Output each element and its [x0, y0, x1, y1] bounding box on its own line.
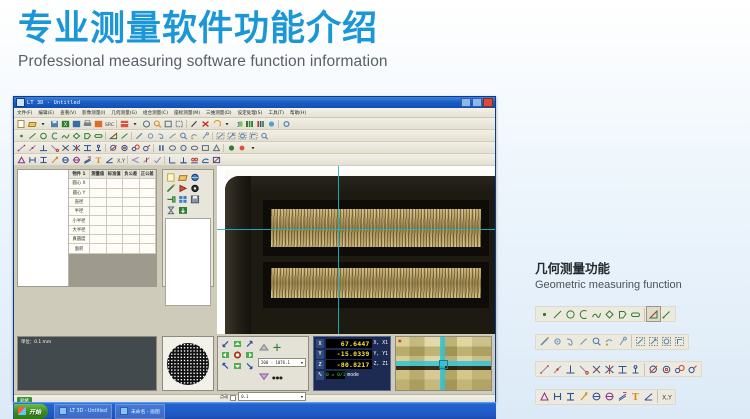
standard-toolbar[interactable]: X SRC 1 — [14, 118, 495, 130]
probe-icon[interactable] — [603, 335, 616, 349]
dropdown-arrow-icon[interactable] — [222, 119, 232, 128]
menu-item-image-measure[interactable]: 影像测量(I) — [82, 110, 105, 116]
table-row[interactable]: 大半径 — [69, 226, 156, 235]
gear-icon[interactable] — [551, 335, 564, 349]
circle-tangent-icon[interactable] — [647, 362, 660, 376]
toolbar-separator — [657, 390, 658, 403]
datum-set-icon[interactable] — [211, 155, 221, 164]
text-icon[interactable]: T — [629, 390, 642, 404]
toolbar-separator — [116, 120, 117, 128]
angle-icon[interactable] — [130, 155, 140, 164]
cross-point-icon[interactable] — [141, 155, 151, 164]
line2p-icon[interactable] — [16, 143, 26, 152]
angle-dim-icon[interactable] — [642, 390, 655, 404]
gold-region-1 — [271, 209, 481, 247]
brush-icon[interactable] — [165, 183, 176, 193]
layer-icon[interactable]: 1 — [233, 119, 243, 128]
circle-move-icon[interactable] — [141, 143, 151, 152]
parallel-bars-icon[interactable] — [156, 143, 166, 152]
perpendicular-icon[interactable] — [38, 143, 48, 152]
new-file-icon[interactable] — [165, 172, 176, 182]
polygon-icon[interactable] — [71, 131, 81, 140]
cell[interactable] — [123, 198, 140, 207]
toolbar-separator — [153, 144, 154, 152]
paint-icon — [120, 407, 128, 415]
row-label: 真圆度 — [69, 235, 90, 244]
curve-icon[interactable] — [590, 307, 603, 321]
row-label: 小半径 — [69, 216, 90, 225]
fit-icon[interactable] — [174, 119, 184, 128]
zoom-in-light-icon[interactable] — [258, 339, 270, 357]
zoom-icon[interactable] — [152, 119, 162, 128]
toolbar-separator — [278, 120, 279, 128]
xy-icon[interactable]: X,Y — [115, 155, 125, 164]
cell[interactable] — [140, 235, 157, 244]
cell[interactable] — [90, 179, 107, 188]
save-icon[interactable] — [49, 119, 59, 128]
cell[interactable] — [140, 244, 157, 253]
hourglass-icon[interactable] — [165, 205, 176, 215]
measurement-table: 物件 1 测量值 标准值 负公差 正公差 圆心 X 圆心 Y 直径 半径 小半径… — [69, 170, 156, 286]
cell[interactable] — [140, 207, 157, 216]
plane-icon[interactable] — [200, 143, 210, 152]
pan-icon[interactable] — [163, 119, 173, 128]
table-row[interactable]: 圆心 Y — [69, 189, 156, 198]
svg-text:SRC: SRC — [105, 122, 114, 128]
cell[interactable] — [140, 216, 157, 225]
axis-label-z: Z — [316, 360, 324, 369]
axis-value-x: 67.6447 — [326, 339, 372, 348]
clock-icon[interactable] — [189, 183, 200, 193]
curve-icon[interactable] — [60, 131, 70, 140]
start-label: 开始 — [29, 407, 41, 416]
axis-value-y: -15.0339 — [326, 350, 372, 359]
line2p-icon[interactable] — [538, 362, 551, 376]
bisect-icon[interactable] — [577, 362, 590, 376]
table-empty-area — [69, 254, 156, 286]
line-icon[interactable] — [27, 131, 37, 140]
menu-item-settings[interactable]: 设定处理(S) — [238, 110, 263, 116]
contour-icon[interactable] — [616, 307, 629, 321]
toolbar-measure-tools[interactable] — [535, 334, 689, 350]
open-folder-icon[interactable] — [27, 119, 37, 128]
jog-down-left-button[interactable] — [220, 361, 231, 371]
datum-rotate-icon[interactable] — [200, 155, 210, 164]
diagonal-icon[interactable] — [226, 131, 236, 140]
arrow-probe-icon[interactable] — [167, 131, 177, 140]
cell[interactable] — [107, 198, 124, 207]
cylinder-icon[interactable] — [167, 143, 177, 152]
start-button[interactable]: 开始 — [14, 404, 48, 419]
speed-select[interactable]: 200 - 1076.1 ▼ — [258, 358, 306, 367]
jog-down-button[interactable] — [232, 361, 243, 371]
bars-icon[interactable] — [255, 119, 265, 128]
axis-label-y: Y — [316, 350, 324, 359]
cell[interactable] — [90, 198, 107, 207]
app-icon — [59, 407, 67, 415]
datum-left-icon[interactable] — [167, 155, 177, 164]
cell[interactable] — [107, 207, 124, 216]
slide-root: 专业测量软件功能介绍 Professional measuring softwa… — [0, 0, 750, 419]
midline-icon[interactable] — [616, 362, 629, 376]
diagonal-icon[interactable] — [647, 335, 660, 349]
stage-control-panel[interactable]: 200 - 1076.1 ▼ ●●● 点动 — [217, 336, 309, 391]
circle-dashed-icon[interactable] — [660, 335, 673, 349]
row-label: 圆心 X — [69, 179, 90, 188]
circle-move-icon[interactable] — [686, 362, 699, 376]
i-beam-icon[interactable] — [564, 390, 577, 404]
maximize-button[interactable] — [472, 98, 482, 107]
toolbar-annotation-tools[interactable]: T X,Y — [535, 389, 676, 405]
toolbar-separator — [212, 132, 213, 140]
pixel-zoom-pane[interactable]: ▣ — [395, 336, 492, 391]
taper-icon[interactable] — [616, 390, 629, 404]
menu-item-tools[interactable]: 工具(T) — [268, 110, 284, 116]
corner-dashed-icon[interactable] — [673, 335, 686, 349]
export-excel-icon[interactable]: X — [60, 119, 70, 128]
window-title-bar[interactable]: LT 3D - Untitled — [14, 97, 495, 108]
speed-select-value: 200 - 1076.1 — [261, 360, 290, 365]
cell[interactable] — [107, 235, 124, 244]
jog-pad[interactable] — [220, 339, 255, 371]
toolbar-geometry-primitives[interactable] — [535, 306, 676, 322]
close-button[interactable] — [483, 98, 493, 107]
delete-icon[interactable] — [200, 119, 210, 128]
arrow-probe-icon[interactable] — [577, 335, 590, 349]
triangle-icon[interactable] — [16, 155, 26, 164]
line-point-icon[interactable] — [27, 143, 37, 152]
point-icon[interactable] — [538, 307, 551, 321]
light-level-label: ●●● — [272, 375, 283, 380]
lightning-icon[interactable] — [577, 390, 590, 404]
perpendicular-icon[interactable] — [564, 362, 577, 376]
construct-toolbar[interactable] — [14, 142, 495, 154]
taskbar-item-label: 未命名 - 画图 — [131, 408, 160, 415]
dro-row-x: X 67.6447 X, X1 — [316, 339, 388, 348]
row-label: 圆心 Y — [69, 189, 90, 198]
color-ball-icon[interactable] — [226, 143, 236, 152]
windows-taskbar[interactable]: 开始 LT 3D - Untitled 未命名 - 画图 — [13, 402, 496, 419]
theta-icon[interactable] — [60, 155, 70, 164]
step-label: 点动 — [220, 394, 228, 400]
menu-bar[interactable]: 文件(F) 编辑(E) 查看(V) 影像测量(I) 几何测量(G) 组合测量(C… — [14, 108, 495, 118]
line-point-icon[interactable] — [551, 362, 564, 376]
paint-icon[interactable] — [237, 143, 247, 152]
pick-icon[interactable] — [200, 131, 210, 140]
slot-icon[interactable] — [629, 307, 642, 321]
menu-item-coordinate-measure[interactable]: 座标测量(M) — [174, 110, 200, 116]
chevron-down-icon[interactable]: ▼ — [301, 395, 303, 399]
cell[interactable] — [107, 179, 124, 188]
play-icon[interactable] — [177, 183, 188, 193]
datum-pair-icon[interactable] — [189, 155, 199, 164]
cell[interactable] — [90, 235, 107, 244]
crosshair-horizontal — [217, 229, 495, 230]
cone-icon[interactable] — [211, 143, 221, 152]
datum-bottom-icon[interactable] — [178, 155, 188, 164]
hook-icon[interactable] — [564, 335, 577, 349]
cell[interactable] — [140, 226, 157, 235]
cell[interactable] — [123, 244, 140, 253]
align-icon[interactable] — [165, 194, 176, 204]
pattern-icon[interactable] — [634, 335, 647, 349]
client-area: 物件 1 测量值 标准值 负公差 正公差 圆心 X 圆心 Y 直径 半径 小半径… — [14, 166, 495, 394]
table-row[interactable]: 直径 — [69, 198, 156, 207]
tool-palette-list[interactable] — [165, 218, 211, 306]
triangle-icon[interactable] — [538, 390, 551, 404]
bisect-icon[interactable] — [49, 143, 59, 152]
light-icon[interactable] — [266, 119, 276, 128]
step-value-select[interactable]: 0.1 ▼ — [238, 392, 306, 401]
save-icon[interactable] — [189, 194, 200, 204]
cell[interactable] — [140, 179, 157, 188]
tool-palette[interactable] — [162, 169, 214, 287]
menu-item-file[interactable]: 文件(F) — [17, 110, 32, 116]
lightning-icon[interactable] — [49, 155, 59, 164]
taskbar-item-paint[interactable]: 未命名 - 画图 — [115, 404, 165, 419]
taskbar-item-lt3d[interactable]: LT 3D - Untitled — [54, 404, 112, 419]
cell[interactable] — [90, 226, 107, 235]
table-icon[interactable] — [119, 119, 129, 128]
toolbar-separator — [223, 144, 224, 152]
cell[interactable] — [123, 179, 140, 188]
table-row[interactable]: 圆心 X — [69, 179, 156, 188]
table-row[interactable]: 小半径 — [69, 216, 156, 225]
dropdown-arrow-icon[interactable] — [38, 119, 48, 128]
zoom-out-light-icon[interactable] — [258, 368, 270, 386]
counter-icon: % — [316, 371, 324, 380]
table-row[interactable]: 面积 — [69, 244, 156, 253]
export-icon[interactable] — [177, 205, 188, 215]
contour-icon[interactable] — [82, 131, 92, 140]
preview-icon[interactable] — [93, 119, 103, 128]
dot-pattern-image — [167, 343, 209, 385]
slot-icon[interactable] — [93, 131, 103, 140]
cell[interactable] — [140, 198, 157, 207]
table-row[interactable]: 真圆度 — [69, 235, 156, 244]
undo-circle-icon[interactable] — [141, 119, 151, 128]
cell[interactable] — [140, 189, 157, 198]
counter-label: mode — [347, 373, 359, 378]
globe-icon[interactable] — [189, 172, 200, 182]
step-value: 0.1 — [241, 394, 248, 399]
phi-icon[interactable] — [603, 390, 616, 404]
grid-view-icon[interactable] — [244, 119, 254, 128]
toolbar-separator — [631, 335, 632, 348]
cross-intersect-icon[interactable] — [71, 143, 81, 152]
point-icon[interactable] — [16, 131, 26, 140]
jog-down-right-button[interactable] — [244, 361, 255, 371]
midline-icon[interactable] — [82, 143, 92, 152]
pin-icon[interactable] — [629, 362, 642, 376]
corner-dashed-icon[interactable] — [248, 131, 258, 140]
cross-intersect-icon[interactable] — [603, 362, 616, 376]
circle-tangent-icon[interactable] — [108, 143, 118, 152]
src-label-icon: SRC — [104, 119, 114, 128]
probe-tool-icon[interactable] — [189, 119, 199, 128]
open-folder-icon[interactable] — [177, 172, 188, 182]
zoom-icon[interactable] — [259, 131, 269, 140]
jog-right-button[interactable] — [244, 350, 255, 360]
windows-flag-icon — [18, 407, 26, 415]
two-circle-icon[interactable] — [673, 362, 686, 376]
digital-readout-panel: X 67.6447 X, X1 Y -15.0339 Y, Y1 Z -80.8… — [313, 336, 391, 391]
circle-center-icon[interactable] — [660, 362, 673, 376]
magnifier-icon[interactable] — [590, 335, 603, 349]
object-list[interactable] — [18, 170, 69, 286]
theta-icon[interactable] — [590, 390, 603, 404]
cell[interactable] — [90, 244, 107, 253]
print-icon[interactable] — [82, 119, 92, 128]
check-line-icon[interactable] — [152, 155, 162, 164]
dro-row-y: Y -15.0339 Y, Y1 — [316, 350, 388, 359]
jog-up-left-button[interactable] — [220, 339, 231, 349]
circle-icon[interactable] — [564, 307, 577, 321]
page-title-en: Professional measuring software function… — [18, 53, 538, 71]
th-object: 物件 1 — [69, 170, 90, 179]
new-file-icon[interactable] — [16, 119, 26, 128]
xy-icon[interactable]: X,Y — [660, 390, 673, 404]
th-measured: 测量值 — [90, 170, 107, 179]
settings-icon[interactable] — [281, 119, 291, 128]
grid-icon[interactable] — [177, 194, 188, 204]
row-label: 大半径 — [69, 226, 90, 235]
intersect-icon[interactable] — [590, 362, 603, 376]
window-buttons[interactable] — [461, 98, 493, 107]
gold-region-2 — [271, 268, 481, 298]
h-dim-icon[interactable] — [551, 390, 564, 404]
cell[interactable] — [90, 216, 107, 225]
toolbar-construct-tools[interactable] — [535, 361, 702, 377]
segment-icon[interactable] — [119, 131, 129, 140]
row-label: 直径 — [69, 198, 90, 207]
angle-dim-icon[interactable] — [104, 155, 114, 164]
table-row[interactable]: 半径 — [69, 207, 156, 216]
jog-left-button[interactable] — [220, 350, 231, 360]
pattern-icon[interactable] — [215, 131, 225, 140]
phi-icon[interactable] — [71, 155, 81, 164]
circle-center-icon[interactable] — [119, 143, 129, 152]
magnifier-icon[interactable] — [178, 131, 188, 140]
svg-text:T: T — [632, 393, 639, 402]
pick-icon[interactable] — [616, 335, 629, 349]
ellipse-icon[interactable] — [189, 143, 199, 152]
th-lower-tol: 负公差 — [123, 170, 140, 179]
menu-item-combined-measure[interactable]: 组合测量(C) — [143, 110, 168, 116]
svg-text:T: T — [95, 156, 101, 164]
dropdown-arrow-icon[interactable] — [130, 119, 140, 128]
circle-icon[interactable] — [38, 131, 48, 140]
menu-item-edit[interactable]: 编辑(E) — [38, 110, 54, 116]
sphere-icon[interactable] — [178, 143, 188, 152]
app-icon — [16, 98, 25, 107]
counter-value: 0 = 0/1 — [326, 371, 345, 379]
pen-icon[interactable] — [134, 131, 144, 140]
circle-dashed-icon[interactable] — [237, 131, 247, 140]
toolbar-separator — [105, 144, 106, 152]
two-circle-icon[interactable] — [130, 143, 140, 152]
minimize-button[interactable] — [461, 98, 471, 107]
angle-selected-icon[interactable] — [108, 131, 118, 140]
application-window: LT 3D - Untitled 文件(F) 编辑(E) 查看(V) 影像测量(… — [13, 96, 496, 402]
arc-icon[interactable] — [577, 307, 590, 321]
cell[interactable] — [90, 207, 107, 216]
report-icon[interactable] — [71, 119, 81, 128]
row-label: 半径 — [69, 207, 90, 216]
cell[interactable] — [107, 226, 124, 235]
h-dim-icon[interactable] — [27, 155, 37, 164]
chevron-down-icon[interactable]: ▼ — [301, 361, 303, 365]
dot-pattern-pane[interactable] — [162, 336, 214, 391]
angle-selected-icon[interactable] — [647, 307, 660, 321]
jog-up-button[interactable] — [232, 339, 243, 349]
cell[interactable] — [107, 244, 124, 253]
annotation-toolbar[interactable]: T X,Y — [14, 154, 495, 166]
row-label: 面积 — [69, 244, 90, 253]
cell[interactable] — [123, 207, 140, 216]
pen-icon[interactable] — [538, 335, 551, 349]
toolbar-separator — [644, 308, 645, 321]
pin-icon[interactable] — [93, 143, 103, 152]
text-icon[interactable]: T — [93, 155, 103, 164]
geometric-function-title-cn: 几何测量功能 — [535, 258, 740, 277]
menu-item-3d-measure[interactable]: 三维测量(D) — [206, 110, 232, 116]
axis-label-x: X — [316, 339, 324, 348]
menu-item-view[interactable]: 查看(V) — [60, 110, 76, 116]
cell[interactable] — [123, 216, 140, 225]
focus-target-icon[interactable] — [272, 339, 282, 357]
arc-icon[interactable] — [49, 131, 59, 140]
video-preview-pane[interactable]: 单位：0.1 mm — [17, 336, 157, 391]
cell[interactable] — [90, 189, 107, 198]
toolbar-separator — [131, 132, 132, 140]
gear-icon[interactable] — [145, 131, 155, 140]
cell[interactable] — [123, 226, 140, 235]
polygon-icon[interactable] — [603, 307, 616, 321]
probe-icon[interactable] — [189, 131, 199, 140]
axis-value-z: -80.8217 — [326, 360, 372, 369]
cell[interactable] — [107, 216, 124, 225]
menu-item-help[interactable]: 帮助(H) — [290, 110, 306, 116]
intersect-icon[interactable] — [60, 143, 70, 152]
dropdown-arrow-icon[interactable] — [248, 143, 258, 152]
undo-icon[interactable] — [211, 119, 221, 128]
geometry-toolbar[interactable] — [14, 130, 495, 142]
taper-icon[interactable] — [82, 155, 92, 164]
jog-up-right-button[interactable] — [244, 339, 255, 349]
jog-stop-button[interactable] — [232, 350, 243, 360]
toolbar-separator — [644, 363, 645, 376]
page-header: 专业测量软件功能介绍 Professional measuring softwa… — [18, 10, 538, 71]
axis-suffix-z: Z, Z1 — [374, 362, 388, 367]
cell[interactable] — [123, 189, 140, 198]
window-title: LT 3D - Untitled — [27, 100, 459, 106]
segment-icon[interactable] — [660, 307, 673, 321]
cell[interactable] — [123, 235, 140, 244]
bottom-panel-strip: 单位：0.1 mm — [14, 334, 495, 394]
zoom-target-square — [439, 360, 448, 369]
line-icon[interactable] — [551, 307, 564, 321]
hook-icon[interactable] — [156, 131, 166, 140]
th-upper-tol: 正公差 — [140, 170, 157, 179]
i-beam-icon[interactable] — [38, 155, 48, 164]
menu-item-geometry-measure[interactable]: 几何测量(G) — [111, 110, 137, 116]
zoom-flag-icon: ▣ — [398, 338, 402, 343]
cell[interactable] — [107, 189, 124, 198]
geometric-function-panel: 几何测量功能 Geometric measuring function — [535, 258, 740, 407]
tool-palette-grid[interactable] — [165, 172, 211, 215]
th-nominal: 标准值 — [107, 170, 124, 179]
